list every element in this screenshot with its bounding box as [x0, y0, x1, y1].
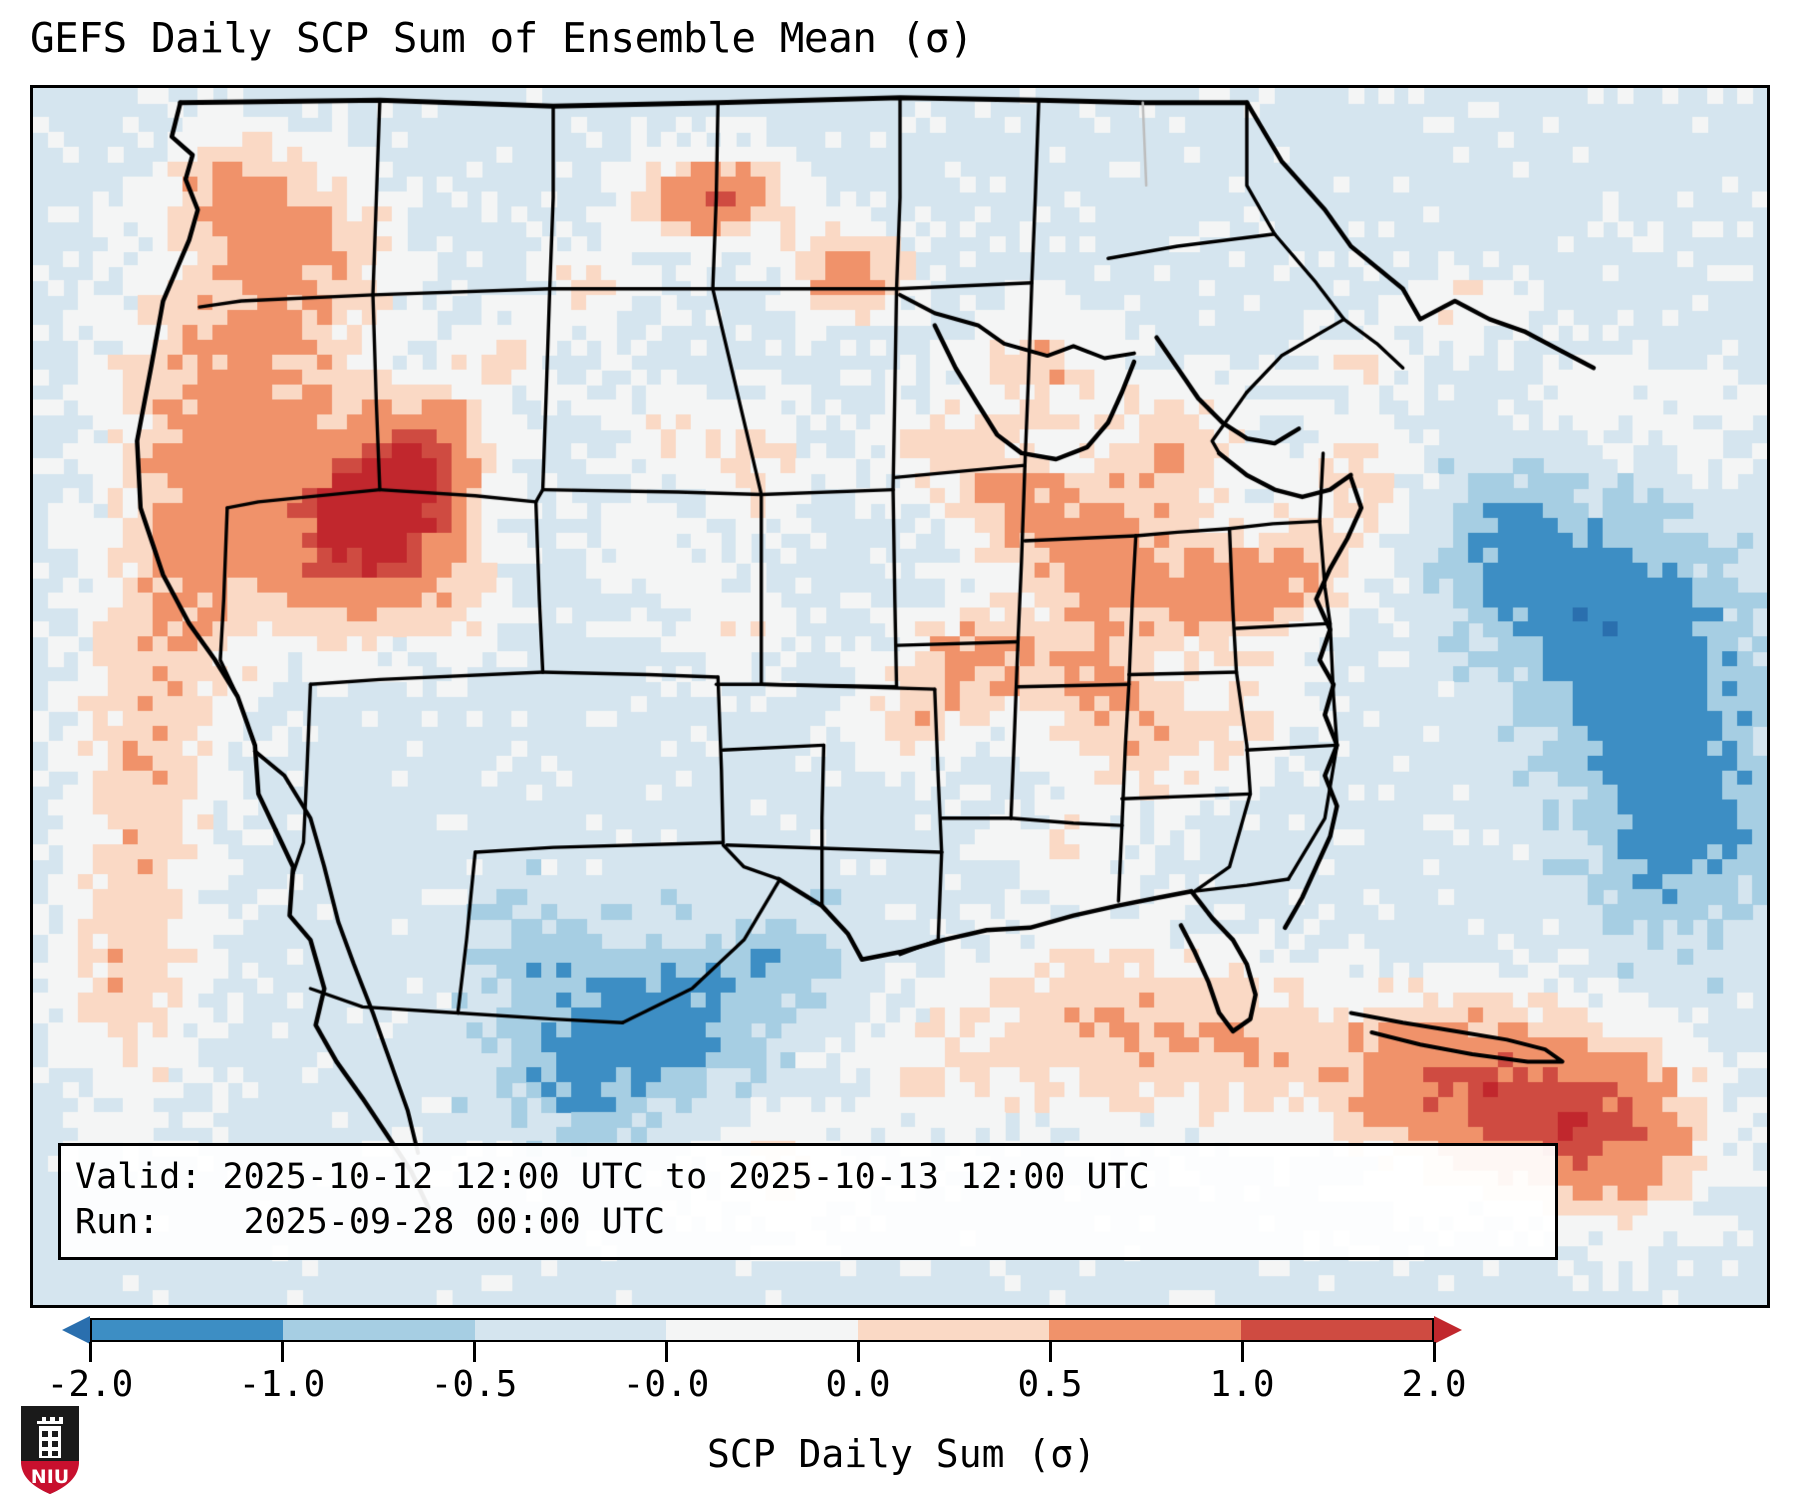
colorbar-tick-label-0: -2.0 [47, 1364, 134, 1405]
colorbar-tick-4 [857, 1342, 860, 1362]
colorbar-segment-4 [858, 1320, 1049, 1340]
niu-logo: NIU [19, 1404, 81, 1496]
colorbar-segment-5 [1049, 1320, 1240, 1340]
colorbar-tick-label-7: 2.0 [1401, 1364, 1466, 1405]
colorbar-tick-1 [281, 1342, 284, 1362]
colorbar-tick-0 [89, 1342, 92, 1362]
colorbar-tick-label-2: -0.5 [431, 1364, 518, 1405]
colorbar-ticks: -2.0-1.0-0.5-0.00.00.51.02.0 [62, 1342, 1462, 1402]
colorbar-over-arrow [1434, 1316, 1462, 1344]
colorbar-segment-6 [1241, 1320, 1432, 1340]
valid-time-line: Valid: 2025-10-12 12:00 UTC to 2025-10-1… [75, 1155, 1541, 1200]
map-panel [30, 85, 1770, 1308]
colorbar-tick-label-4: 0.0 [825, 1364, 890, 1405]
colorbar-tick-label-6: 1.0 [1209, 1364, 1274, 1405]
run-time-line: Run: 2025-09-28 00:00 UTC [75, 1200, 1541, 1245]
colorbar-segments [90, 1318, 1434, 1342]
colorbar-under-arrow [62, 1316, 90, 1344]
colorbar-tick-7 [1433, 1342, 1436, 1362]
colorbar-segment-3 [666, 1320, 857, 1340]
colorbar-axis-label: SCP Daily Sum (σ) [0, 1432, 1803, 1476]
page-title: GEFS Daily SCP Sum of Ensemble Mean (σ) [30, 14, 973, 62]
colorbar-tick-6 [1241, 1342, 1244, 1362]
colorbar-tick-2 [473, 1342, 476, 1362]
colorbar[interactable] [62, 1318, 1462, 1342]
colorbar-tick-3 [665, 1342, 668, 1362]
svg-text:NIU: NIU [31, 1466, 69, 1488]
colorbar-tick-label-1: -1.0 [239, 1364, 326, 1405]
colorbar-tick-label-3: -0.0 [623, 1364, 710, 1405]
scp-anomaly-heatmap [33, 88, 1767, 1305]
colorbar-segment-0 [92, 1320, 283, 1340]
valid-run-infobox: Valid: 2025-10-12 12:00 UTC to 2025-10-1… [58, 1143, 1558, 1260]
colorbar-segment-2 [475, 1320, 666, 1340]
colorbar-tick-label-5: 0.5 [1017, 1364, 1082, 1405]
colorbar-segment-1 [283, 1320, 474, 1340]
colorbar-tick-5 [1049, 1342, 1052, 1362]
